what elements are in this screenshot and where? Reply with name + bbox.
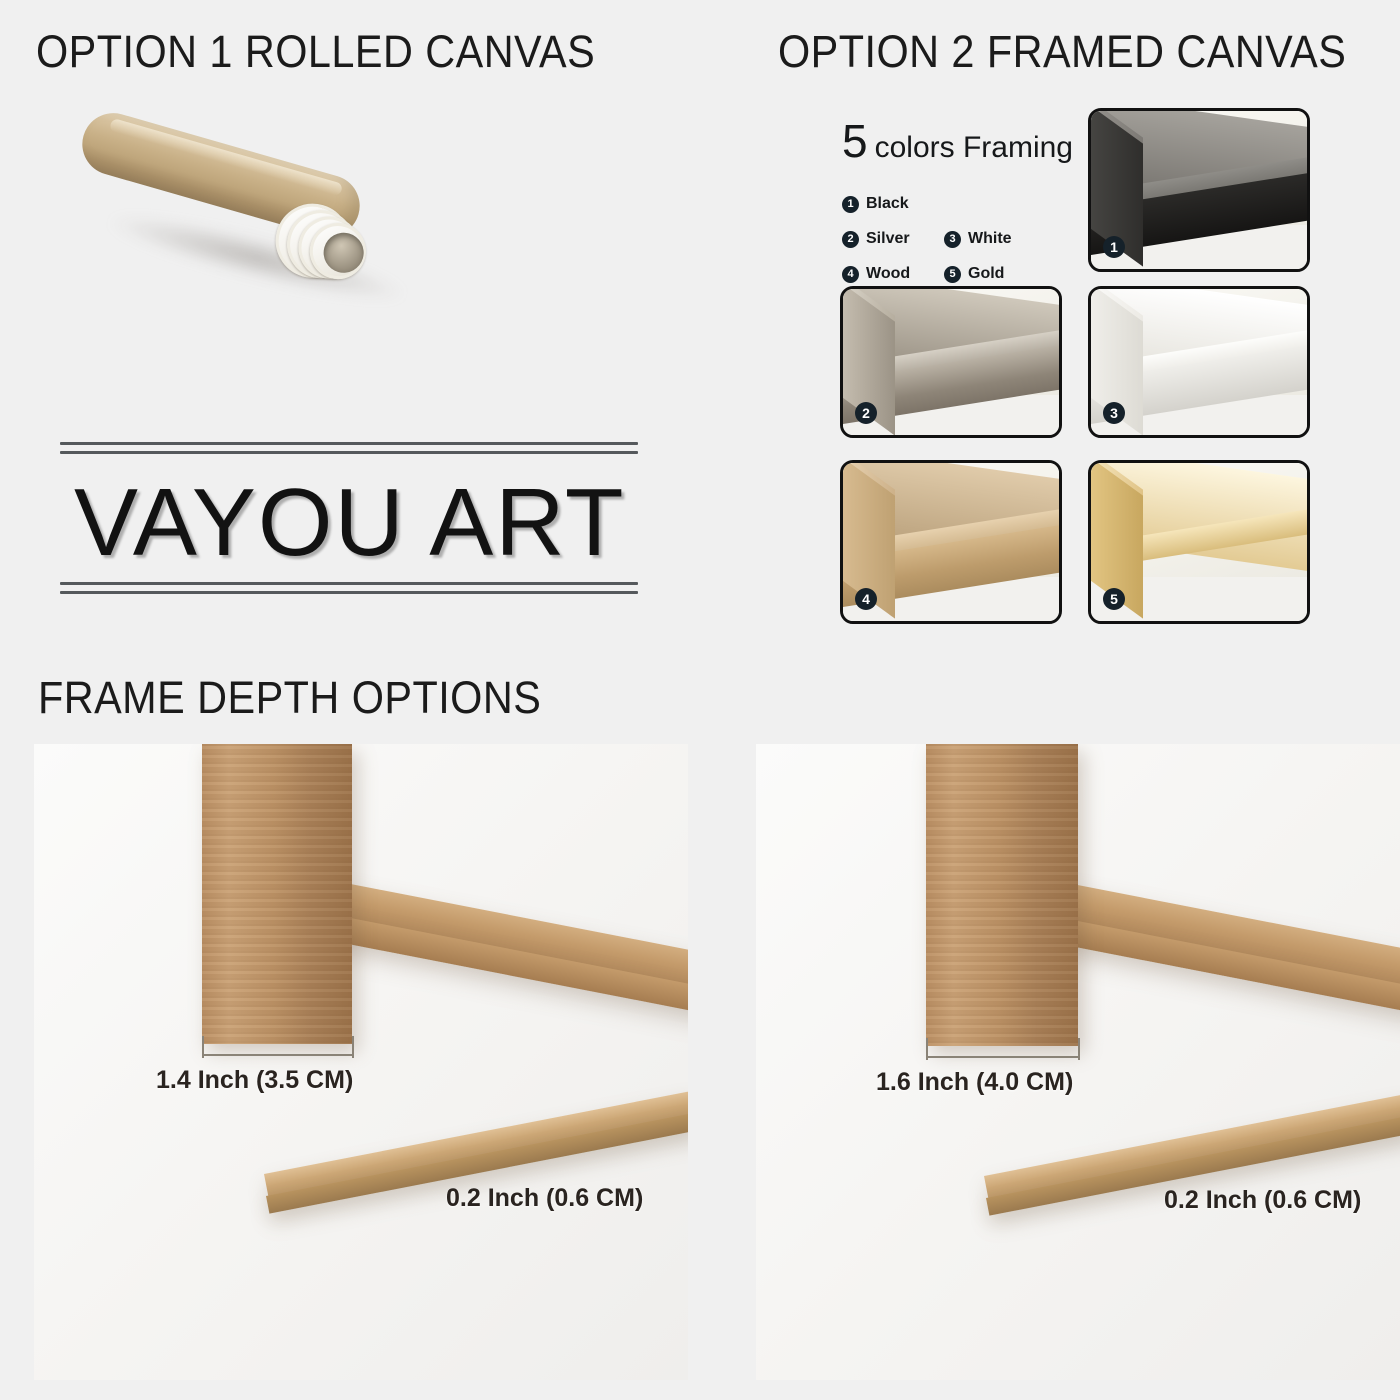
frame-swatch-gold[interactable]: 5 bbox=[1088, 460, 1310, 624]
frame-swatch-black[interactable]: 1 bbox=[1088, 108, 1310, 272]
legend-item-wood: 4 Wood bbox=[842, 265, 944, 283]
logo-rule-top bbox=[60, 442, 638, 454]
legend-item-silver: 2 Silver bbox=[842, 230, 944, 248]
frame-depth-photo-1-6-inch: 1.6 Inch (4.0 CM) 0.2 Inch (0.6 CM) bbox=[756, 744, 1400, 1380]
frame-swatch-wood[interactable]: 4 bbox=[840, 460, 1062, 624]
swatch-number-badge: 3 bbox=[1103, 402, 1125, 424]
legend-title: 5 colors Framing bbox=[842, 118, 1082, 165]
option1-heading: OPTION 1 ROLLED CANVAS bbox=[36, 26, 595, 78]
legend-row: 4 Wood 5 Gold bbox=[842, 265, 1082, 283]
frame-swatch-white[interactable]: 3 bbox=[1088, 286, 1310, 438]
depth-label-thin: 0.2 Inch (0.6 CM) bbox=[1164, 1186, 1361, 1215]
legend-item-gold: 5 Gold bbox=[944, 265, 1046, 283]
brand-name: VAYOU ART bbox=[74, 468, 625, 578]
framing-colors-legend: 5 colors Framing 1 Black 2 Silver 3 Whit… bbox=[842, 118, 1082, 300]
swatch-number-badge: 5 bbox=[1103, 588, 1125, 610]
legend-count: 5 bbox=[842, 118, 868, 164]
legend-item-black: 1 Black bbox=[842, 195, 944, 213]
swatch-number-badge: 1 bbox=[1103, 236, 1125, 258]
legend-label: White bbox=[968, 230, 1012, 248]
legend-number-badge: 3 bbox=[944, 231, 961, 248]
legend-number-badge: 1 bbox=[842, 196, 859, 213]
brand-logo-block: VAYOU ART bbox=[60, 430, 640, 610]
swatch-number-badge: 4 bbox=[855, 588, 877, 610]
legend-label: Silver bbox=[866, 230, 910, 248]
legend-number-badge: 4 bbox=[842, 266, 859, 283]
legend-row: 2 Silver 3 White bbox=[842, 230, 1082, 248]
legend-number-badge: 2 bbox=[842, 231, 859, 248]
legend-item-white: 3 White bbox=[944, 230, 1046, 248]
legend-label: Gold bbox=[968, 265, 1004, 283]
rolled-canvas-tube-illustration bbox=[60, 110, 440, 340]
legend-label: Black bbox=[866, 195, 909, 213]
frame-depth-heading: FRAME DEPTH OPTIONS bbox=[38, 672, 541, 724]
depth-label-thin: 0.2 Inch (0.6 CM) bbox=[446, 1184, 643, 1213]
option2-heading: OPTION 2 FRAMED CANVAS bbox=[778, 26, 1346, 78]
infographic-page: OPTION 1 ROLLED CANVAS VAYOU ART OPTION … bbox=[0, 0, 1400, 1400]
frame-swatch-silver[interactable]: 2 bbox=[840, 286, 1062, 438]
legend-row: 1 Black bbox=[842, 195, 1082, 213]
depth-label-deep: 1.6 Inch (4.0 CM) bbox=[876, 1068, 1073, 1097]
legend-label: Wood bbox=[866, 265, 910, 283]
logo-rule-bottom bbox=[60, 582, 638, 594]
depth-label-deep: 1.4 Inch (3.5 CM) bbox=[156, 1066, 353, 1095]
legend-number-badge: 5 bbox=[944, 266, 961, 283]
swatch-number-badge: 2 bbox=[855, 402, 877, 424]
legend-title-text: colors Framing bbox=[875, 131, 1073, 165]
frame-depth-photo-1-4-inch: 1.4 Inch (3.5 CM) 0.2 Inch (0.6 CM) bbox=[34, 744, 688, 1380]
